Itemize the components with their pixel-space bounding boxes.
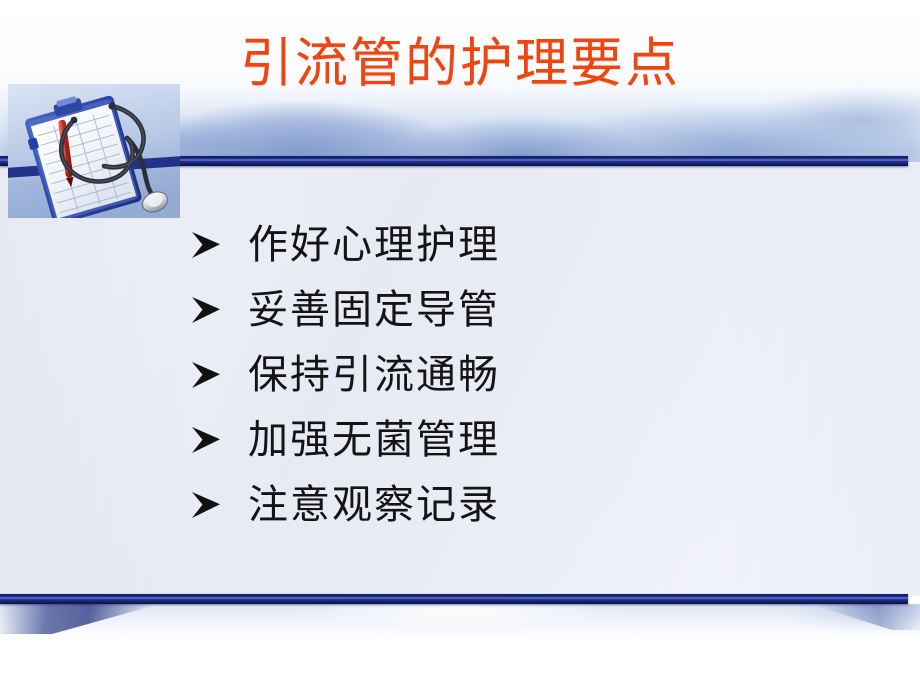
page-margin-area (0, 641, 920, 690)
list-item-label: 妥善固定导管 (248, 287, 500, 333)
bullet-list: 作好心理护理 妥善固定导管 保持引流通畅 (190, 212, 710, 537)
presentation-slide: 引流管的护理要点 (0, 0, 920, 690)
list-item-label: 保持引流通畅 (248, 352, 500, 398)
list-item: 妥善固定导管 (190, 277, 710, 342)
medical-clipboard-stethoscope-image (8, 84, 180, 218)
slide-footer-band (0, 604, 920, 641)
list-item: 作好心理护理 (190, 212, 710, 277)
list-item-label: 注意观察记录 (248, 482, 500, 528)
list-item-label: 加强无菌管理 (248, 417, 500, 463)
bottom-accent-rule (0, 594, 908, 604)
arrowhead-bullet-icon (190, 425, 248, 455)
list-item: 注意观察记录 (190, 472, 710, 537)
list-item: 保持引流通畅 (190, 342, 710, 407)
list-item-label: 作好心理护理 (248, 222, 500, 268)
slide-canvas: 引流管的护理要点 (0, 0, 920, 641)
list-item: 加强无菌管理 (190, 407, 710, 472)
arrowhead-bullet-icon (190, 230, 248, 260)
arrowhead-bullet-icon (190, 490, 248, 520)
arrowhead-bullet-icon (190, 295, 248, 325)
arrowhead-bullet-icon (190, 360, 248, 390)
